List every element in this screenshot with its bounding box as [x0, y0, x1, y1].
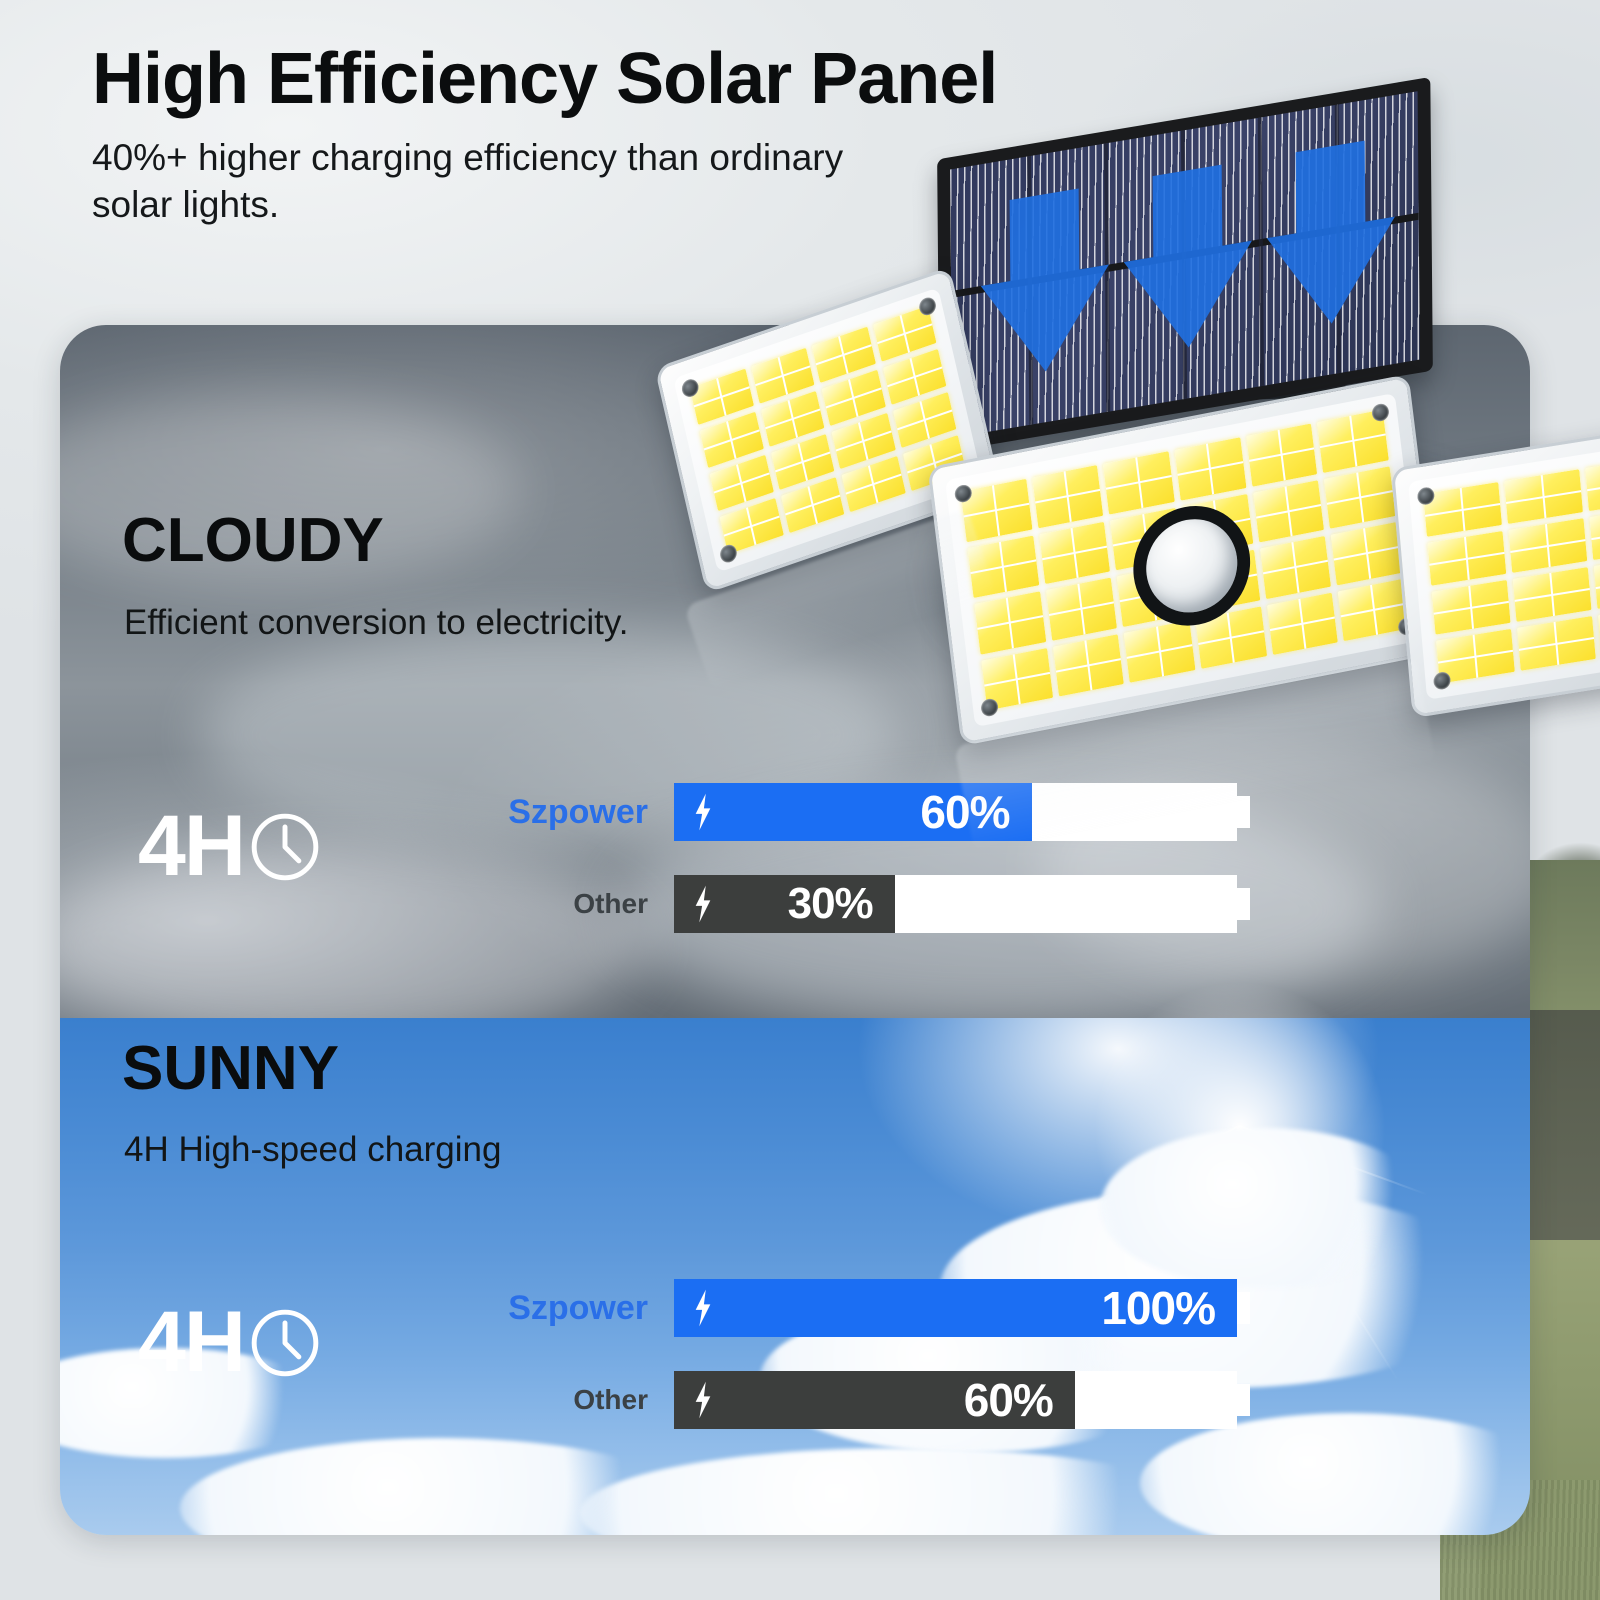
battery-terminal	[1237, 888, 1250, 920]
led-grid-left	[690, 306, 967, 555]
sunny-subheading: 4H High-speed charging	[124, 1130, 501, 1170]
sky-cloud	[580, 1448, 1220, 1535]
battery-terminal	[1237, 1292, 1250, 1324]
led	[1589, 505, 1600, 560]
lightning-bolt-icon	[692, 885, 714, 923]
page-title: High Efficiency Solar Panel	[92, 42, 1292, 118]
battery-fill: 100%	[674, 1279, 1237, 1337]
cloudy-hours-badge: 4H	[138, 810, 322, 884]
sky-cloud	[1140, 1413, 1530, 1535]
led	[1174, 437, 1246, 500]
battery-gauge-szpower-sunny: 100%	[674, 1279, 1237, 1337]
led	[1124, 620, 1196, 683]
bar-row: Other 60%	[482, 1371, 1237, 1429]
clock-icon	[248, 1306, 322, 1380]
battery-value: 30%	[714, 882, 873, 926]
cloudy-subheading: Efficient conversion to electricity.	[124, 603, 628, 643]
led-head-right	[1391, 422, 1600, 719]
bar-label-szpower: Szpower	[482, 795, 674, 829]
led	[1585, 456, 1600, 511]
clock-icon	[248, 810, 322, 884]
battery-fill: 60%	[674, 1371, 1075, 1429]
sunny-heading: SUNNY	[122, 1038, 339, 1100]
led-grid-right	[1423, 456, 1600, 683]
led	[1513, 567, 1592, 622]
led	[1103, 451, 1175, 514]
battery-fill: 30%	[674, 875, 895, 933]
led-head-right-face	[1408, 440, 1600, 700]
bar-label-other: Other	[482, 890, 674, 918]
led	[1423, 482, 1502, 537]
pir-sensor-dome	[1141, 511, 1243, 620]
led	[1246, 423, 1318, 486]
sunny-hours-value: 4H	[138, 1306, 244, 1380]
sunny-bar-group: Szpower 100% Other	[482, 1279, 1237, 1429]
battery-value: 60%	[714, 1377, 1053, 1423]
sky-cloud	[1100, 1128, 1430, 1288]
bar-label-szpower: Szpower	[482, 1291, 674, 1325]
led	[1432, 580, 1511, 635]
led	[1267, 592, 1339, 655]
bar-row: Other 30%	[482, 875, 1237, 933]
cloudy-heading: CLOUDY	[122, 510, 384, 572]
screw	[1433, 671, 1451, 691]
led	[1331, 522, 1403, 585]
battery-gauge-other-cloudy: 30%	[674, 875, 1237, 933]
bar-row: Szpower 100%	[482, 1279, 1237, 1337]
led	[974, 591, 1046, 654]
lightning-bolt-icon	[692, 793, 714, 831]
lightning-bolt-icon	[692, 1381, 714, 1419]
led	[1324, 466, 1396, 529]
led	[1594, 554, 1600, 609]
lightning-bolt-icon	[692, 1289, 714, 1327]
battery-terminal	[1237, 1384, 1250, 1416]
led	[1427, 531, 1506, 586]
led	[1032, 465, 1104, 528]
led	[1053, 634, 1125, 697]
sunny-section: SUNNY 4H High-speed charging 4H Szpower	[60, 1018, 1530, 1535]
led	[1260, 536, 1332, 599]
product-image-solar-light	[650, 115, 1600, 795]
cloudy-hours-value: 4H	[138, 810, 244, 884]
bar-label-other: Other	[482, 1386, 674, 1414]
led	[1508, 518, 1587, 573]
led	[1253, 480, 1325, 543]
led	[1046, 577, 1118, 640]
led	[1039, 521, 1111, 584]
battery-gauge-other-sunny: 60%	[674, 1371, 1237, 1429]
battery-value: 100%	[714, 1285, 1215, 1331]
led	[1504, 469, 1583, 524]
led	[1517, 616, 1596, 671]
sunny-hours-badge: 4H	[138, 1306, 322, 1380]
